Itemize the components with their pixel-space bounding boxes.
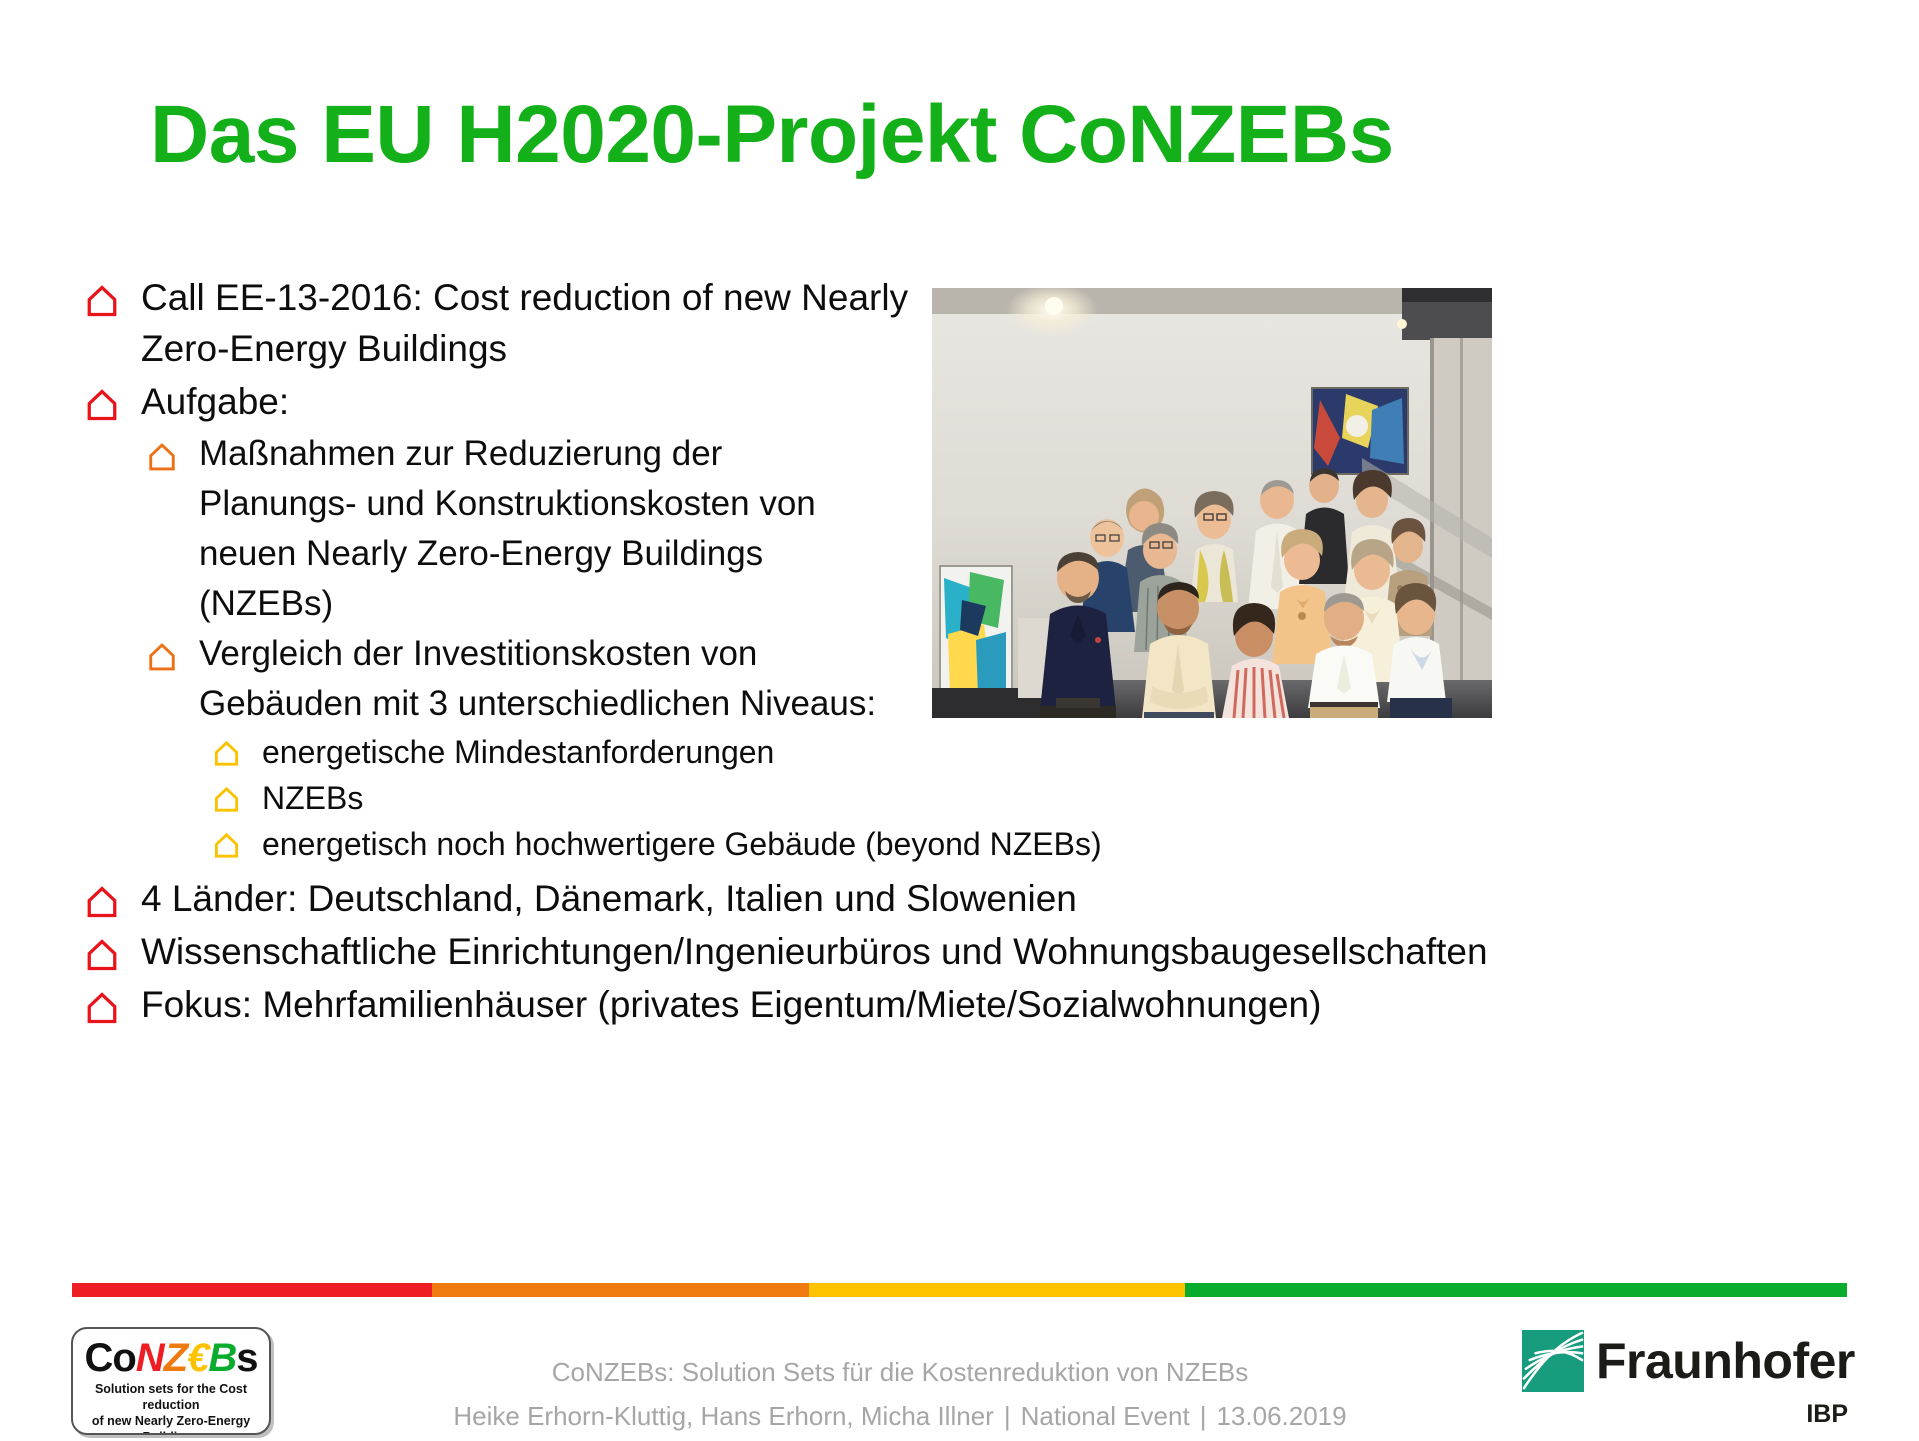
house-icon-yellow (213, 832, 240, 859)
fraunhofer-logo: Fraunhofer IBP (1522, 1330, 1852, 1435)
list-item: NZEBs (213, 775, 1875, 821)
logo-letter-c: C (84, 1336, 112, 1380)
house-icon-orange (147, 642, 177, 672)
logo-letter-b: B (208, 1336, 236, 1380)
fraunhofer-wordmark: Fraunhofer (1596, 1336, 1855, 1386)
logo-letter-s: s (236, 1336, 257, 1380)
fraunhofer-institute-label: IBP (1522, 1400, 1852, 1429)
list-item-label: Aufgabe: (141, 376, 289, 427)
list-item-label: energetisch noch hochwertigere Gebäude (… (262, 821, 1102, 867)
footer-authors: Heike Erhorn-Kluttig, Hans Erhorn, Micha… (453, 1401, 993, 1431)
list-item: energetisch noch hochwertigere Gebäude (… (213, 821, 1875, 867)
colorbar-red-band (72, 1283, 432, 1297)
house-icon-orange (147, 442, 177, 472)
list-item-label: Wissenschaftliche Einrichtungen/Ingenieu… (141, 926, 1488, 977)
list-item: energetische Mindestanforderungen (213, 729, 1875, 775)
colorbar-green-band (1185, 1283, 1847, 1297)
fraunhofer-mark-icon (1522, 1330, 1584, 1392)
page-title: Das EU H2020-Projekt CoNZEBs (150, 92, 1790, 178)
footer-line-2: Heike Erhorn-Kluttig, Hans Erhorn, Micha… (300, 1394, 1500, 1438)
footer-line-1: CoNZEBs: Solution Sets für die Kostenred… (300, 1350, 1500, 1394)
house-icon-red (85, 991, 119, 1025)
list-item: Wissenschaftliche Einrichtungen/Ingenieu… (85, 926, 1875, 977)
footer-date: 13.06.2019 (1216, 1401, 1346, 1431)
conzebs-logo: CoNZ€Bs Solution sets for the Cost reduc… (71, 1327, 271, 1435)
conzebs-logo-wordmark: CoNZ€Bs (73, 1335, 269, 1381)
list-item-label: Fokus: Mehrfamilienhäuser (privates Eige… (141, 979, 1321, 1030)
list-item-label: Maßnahmen zur Reduzierung der Planungs- … (199, 429, 879, 629)
list-item-label: 4 Länder: Deutschland, Dänemark, Italien… (141, 873, 1077, 924)
footer-caption: CoNZEBs: Solution Sets für die Kostenred… (300, 1350, 1500, 1438)
logo-letter-z: Z (164, 1336, 187, 1380)
project-team-group-photo (932, 288, 1492, 718)
conzebs-logo-tagline-line2: of new Nearly Zero-Energy Buildings (73, 1413, 269, 1435)
list-item-label: energetische Mindestanforderungen (262, 729, 774, 775)
list-item-label: NZEBs (262, 775, 363, 821)
logo-letter-euro: € (187, 1336, 208, 1380)
list-item: Fokus: Mehrfamilienhäuser (privates Eige… (85, 979, 1875, 1030)
house-icon-red (85, 885, 119, 919)
logo-letter-n: N (136, 1336, 164, 1380)
footer-event: National Event (1021, 1401, 1190, 1431)
logo-letter-o: o (112, 1336, 135, 1380)
footer-separator-2: | (1190, 1401, 1217, 1431)
slide-root: Das EU H2020-Projekt CoNZEBs Call EE-13-… (0, 0, 1919, 1441)
conzebs-logo-tagline-line1: Solution sets for the Cost reduction (73, 1381, 269, 1413)
house-icon-red (85, 388, 119, 422)
footer-separator-1: | (994, 1401, 1021, 1431)
house-icon-yellow (213, 740, 240, 767)
house-icon-red (85, 938, 119, 972)
list-item: 4 Länder: Deutschland, Dänemark, Italien… (85, 873, 1875, 924)
list-item-label: Call EE-13-2016: Cost reduction of new N… (141, 272, 981, 374)
list-item-label: Vergleich der Investitionskosten von Geb… (199, 629, 879, 729)
colorbar-orange-band (432, 1283, 808, 1297)
colorbar-yellow-band (809, 1283, 1185, 1297)
house-icon-yellow (213, 786, 240, 813)
fraunhofer-logo-row: Fraunhofer (1522, 1330, 1852, 1392)
house-icon-red (85, 284, 119, 318)
footer-colorbar (72, 1283, 1847, 1297)
